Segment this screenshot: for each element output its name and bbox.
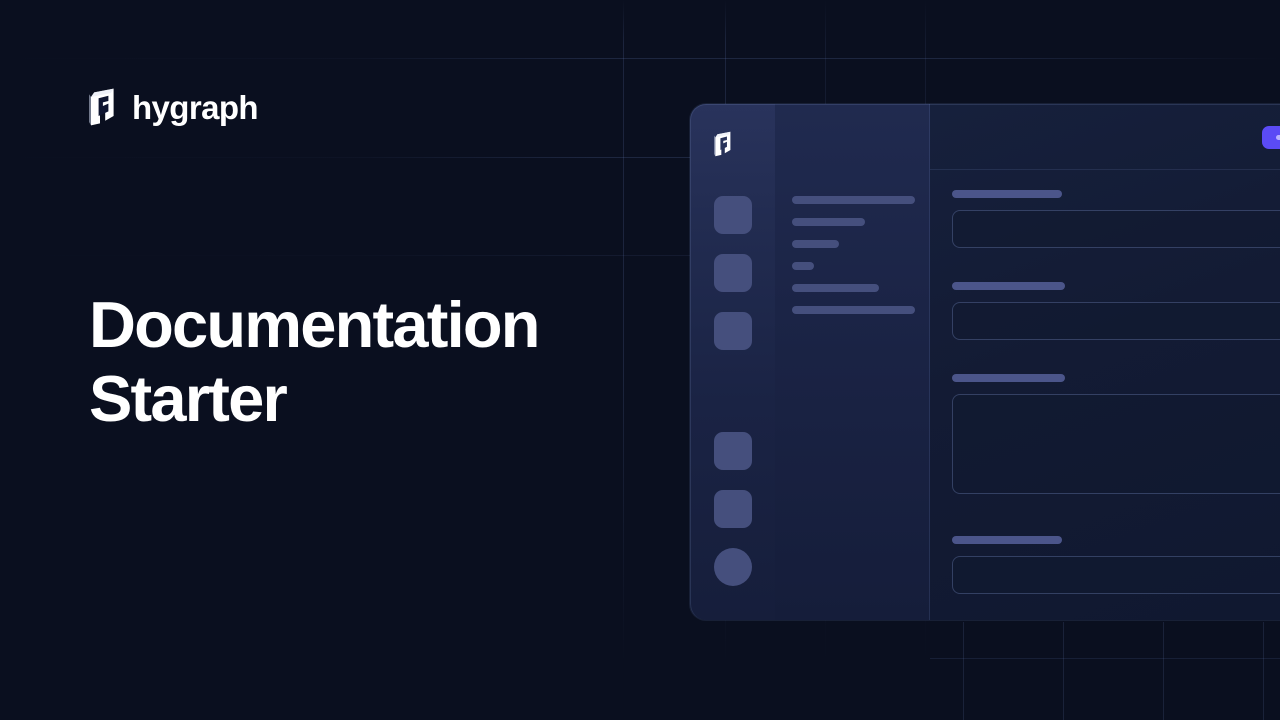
app-rail-items — [690, 196, 775, 586]
app-nav-column — [775, 104, 930, 620]
rail-item-5[interactable] — [714, 490, 752, 528]
field-input[interactable] — [952, 556, 1280, 594]
list-item[interactable] — [792, 284, 879, 292]
form-field-3 — [952, 374, 1280, 494]
form-field-2 — [952, 282, 1280, 340]
form-field-4 — [952, 536, 1280, 594]
brand-lockup: hygraph — [89, 88, 258, 126]
app-form-panel — [952, 190, 1280, 613]
rail-item-3[interactable] — [714, 312, 752, 350]
rail-item-2[interactable] — [714, 254, 752, 292]
field-spacer — [952, 359, 1280, 374]
brand-wordmark: hygraph — [132, 91, 258, 124]
field-label — [952, 282, 1065, 290]
field-label — [952, 190, 1062, 198]
field-spacer — [952, 267, 1280, 282]
list-item[interactable] — [792, 218, 865, 226]
grid-line-vertical — [1263, 622, 1264, 720]
grid-line-vertical — [1063, 622, 1064, 720]
grid-line-vertical — [1163, 622, 1164, 720]
app-topbar — [930, 104, 1280, 170]
field-input[interactable] — [952, 210, 1280, 248]
cta-label-placeholder — [1276, 135, 1280, 140]
list-item[interactable] — [792, 196, 915, 204]
app-nav-placeholder-list — [792, 196, 915, 328]
app-preview-card — [690, 104, 1280, 620]
app-icon-rail — [690, 104, 775, 620]
list-item[interactable] — [792, 240, 839, 248]
hygraph-logo-icon — [714, 131, 734, 157]
page-canvas: hygraph Documentation Starter — [0, 0, 1280, 720]
field-input[interactable] — [952, 302, 1280, 340]
rail-avatar[interactable] — [714, 548, 752, 586]
grid-line-horizontal — [930, 658, 1280, 659]
hygraph-logo-icon — [89, 88, 119, 126]
page-title: Documentation Starter — [89, 288, 649, 436]
form-field-1 — [952, 190, 1280, 248]
field-spacer — [952, 513, 1280, 536]
primary-cta-button[interactable] — [1262, 126, 1280, 149]
field-textarea[interactable] — [952, 394, 1280, 494]
rail-item-4[interactable] — [714, 432, 752, 470]
list-item[interactable] — [792, 262, 814, 270]
rail-item-1[interactable] — [714, 196, 752, 234]
field-label — [952, 536, 1062, 544]
field-label — [952, 374, 1065, 382]
grid-line-horizontal — [0, 58, 1280, 59]
app-content-area — [930, 104, 1280, 620]
list-item[interactable] — [792, 306, 915, 314]
grid-line-vertical — [963, 622, 964, 720]
